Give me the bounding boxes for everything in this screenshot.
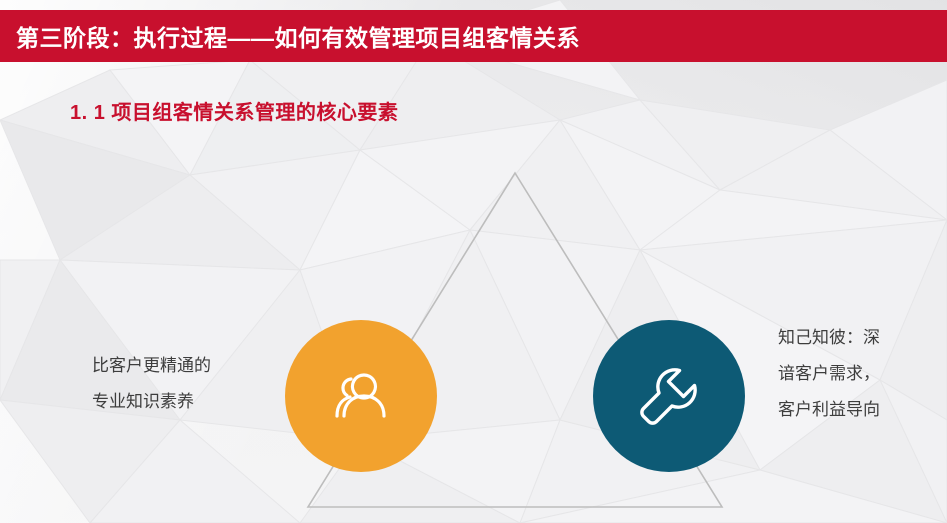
circle-knowledge [285,320,437,472]
circle-customer-insight [593,320,745,472]
right-caption-line-1: 知己知彼：深 [778,320,938,356]
left-caption-line-1: 比客户更精通的 [92,348,277,384]
right-caption-line-3: 客户利益导向 [778,392,938,428]
left-caption-line-2: 专业知识素养 [92,384,277,420]
section-subtitle: 1. 1 项目组客情关系管理的核心要素 [70,96,398,125]
people-icon [318,353,404,439]
left-caption: 比客户更精通的 专业知识素养 [92,348,277,420]
wrench-icon [629,356,709,436]
right-caption: 知己知彼：深 谙客户需求， 客户利益导向 [778,320,938,428]
slide-canvas: 第三阶段：执行过程——如何有效管理项目组客情关系 1. 1 项目组客情关系管理的… [0,0,947,523]
page-title: 第三阶段：执行过程——如何有效管理项目组客情关系 [0,19,580,53]
right-caption-line-2: 谙客户需求， [778,356,938,392]
slide-title-bar: 第三阶段：执行过程——如何有效管理项目组客情关系 [0,10,947,62]
